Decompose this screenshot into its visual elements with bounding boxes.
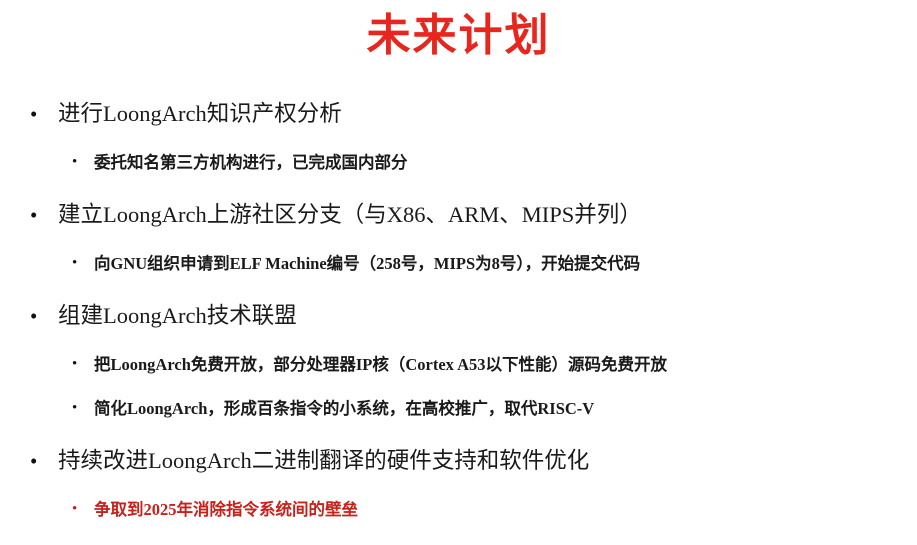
slide-canvas: 未来计划 •进行LoongArch知识产权分析•委托知名第三方机构进行，已完成国… xyxy=(0,0,917,545)
list-spacer xyxy=(0,338,917,347)
page-title: 未来计划 xyxy=(0,10,917,63)
bullet-marker-icon: • xyxy=(30,294,58,338)
bullet-item-level1: •持续改进LoongArch二进制翻译的硬件支持和软件优化 xyxy=(0,439,917,483)
bullet-text: 向GNU组织申请到ELF Machine编号（258号，MIPS为8号），开始提… xyxy=(94,246,640,281)
bullet-marker-icon: • xyxy=(30,92,58,136)
bullet-text: 争取到2025年消除指令系统间的壁垒 xyxy=(94,492,358,527)
bullet-text: 建立LoongArch上游社区分支（与X86、ARM、MIPS并列） xyxy=(58,193,642,237)
bullet-text: 把LoongArch免费开放，部分处理器IP核（Cortex A53以下性能）源… xyxy=(94,347,667,382)
list-spacer xyxy=(0,382,917,391)
bullet-item-level2: •把LoongArch免费开放，部分处理器IP核（Cortex A53以下性能）… xyxy=(0,347,917,382)
bullet-marker-icon: • xyxy=(72,391,94,426)
bullet-marker-icon: • xyxy=(72,492,94,527)
bullet-text: 进行LoongArch知识产权分析 xyxy=(58,92,342,136)
bullet-list: •进行LoongArch知识产权分析•委托知名第三方机构进行，已完成国内部分•建… xyxy=(0,92,917,545)
bullet-marker-icon: • xyxy=(30,193,58,237)
bullet-text: 委托知名第三方机构进行，已完成国内部分 xyxy=(94,145,408,180)
bullet-text: 组建LoongArch技术联盟 xyxy=(58,294,297,338)
bullet-item-level2: •争取到2025年消除指令系统间的壁垒 xyxy=(0,492,917,527)
bullet-marker-icon: • xyxy=(72,347,94,382)
bullet-item-level1: •进行LoongArch知识产权分析 xyxy=(0,92,917,136)
bullet-text: 持续改进LoongArch二进制翻译的硬件支持和软件优化 xyxy=(58,439,589,483)
list-spacer xyxy=(0,281,917,294)
list-spacer xyxy=(0,527,917,540)
bullet-item-level1: •2020年起新流片的龙芯CPU均支持LoongArch，不再支持MIPS xyxy=(0,540,917,545)
bullet-text: 简化LoongArch，形成百条指令的小系统，在高校推广，取代RISC-V xyxy=(94,391,594,426)
list-spacer xyxy=(0,483,917,492)
bullet-marker-icon: • xyxy=(30,540,58,545)
bullet-item-level1: •建立LoongArch上游社区分支（与X86、ARM、MIPS并列） xyxy=(0,193,917,237)
bullet-marker-icon: • xyxy=(72,145,94,180)
bullet-item-level2: •委托知名第三方机构进行，已完成国内部分 xyxy=(0,145,917,180)
bullet-marker-icon: • xyxy=(72,246,94,281)
list-spacer xyxy=(0,136,917,145)
bullet-text: 2020年起新流片的龙芯CPU均支持LoongArch，不再支持MIPS xyxy=(58,540,675,545)
bullet-item-level1: •组建LoongArch技术联盟 xyxy=(0,294,917,338)
bullet-marker-icon: • xyxy=(30,439,58,483)
list-spacer xyxy=(0,237,917,246)
list-spacer xyxy=(0,426,917,439)
bullet-item-level2: •简化LoongArch，形成百条指令的小系统，在高校推广，取代RISC-V xyxy=(0,391,917,426)
list-spacer xyxy=(0,180,917,193)
bullet-item-level2: •向GNU组织申请到ELF Machine编号（258号，MIPS为8号），开始… xyxy=(0,246,917,281)
